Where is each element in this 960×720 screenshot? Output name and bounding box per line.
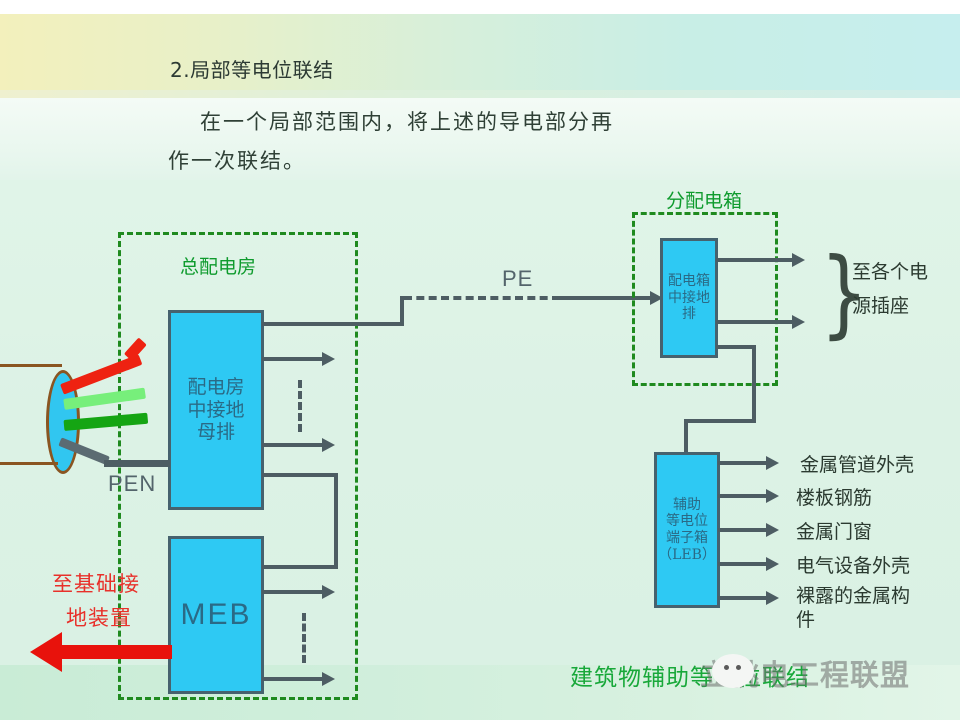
body-paragraph-line-2: 作一次联结。 <box>168 145 306 175</box>
main-bar-branch-2 <box>262 443 324 447</box>
main-to-meb-riser <box>334 473 338 569</box>
leb-target-label-3: 金属门窗 <box>796 517 872 544</box>
leb-outgoing-5 <box>718 596 768 600</box>
leb-target-label-5: 裸露的金属构件 <box>796 585 926 633</box>
leb-target-label-2: 楼板钢筋 <box>796 483 872 510</box>
pe-run-dashed <box>404 296 560 300</box>
main-bar-branch-ellipsis-1 <box>298 380 302 432</box>
box-sub-earthing-bar-line-2: 中接地 <box>668 290 710 307</box>
box-sub-earthing-bar: 配电箱 中接地 排 <box>660 238 718 358</box>
box-main-earthing-bar: 配电房 中接地 母排 <box>168 310 264 510</box>
box-main-earthing-bar-line-1: 配电房 <box>187 376 244 398</box>
leb-outgoing-1 <box>718 461 768 465</box>
sub-bar-outgoing-1-arrowhead <box>792 253 805 267</box>
box-main-earthing-bar-line-3: 母排 <box>197 421 235 443</box>
leb-outgoing-2 <box>718 494 768 498</box>
box-meb-label: MEB <box>180 597 251 632</box>
leb-outgoing-3-arrowhead <box>766 523 779 537</box>
pe-run-riser <box>400 296 404 326</box>
leb-outgoing-5-arrowhead <box>766 591 779 605</box>
sub-bar-outgoing-2-arrowhead <box>792 315 805 329</box>
box-sub-earthing-bar-line-1: 配电箱 <box>668 273 710 290</box>
background-band-top <box>0 14 960 90</box>
pe-run-segment-1 <box>262 322 404 326</box>
box-leb-line-1: 辅助 <box>673 497 701 514</box>
main-to-meb-top <box>262 473 338 477</box>
body-paragraph-line-1: 在一个局部范围内，将上述的导电部分再 <box>200 106 614 136</box>
background-band-title <box>0 90 960 98</box>
red-arrow-label-line-1: 至基础接 <box>52 568 140 598</box>
sub-bar-outgoing-2 <box>716 320 794 324</box>
meb-branch-2-arrowhead <box>322 672 335 686</box>
zone-sub-distribution-box-label: 分配电箱 <box>666 186 742 213</box>
zone-main-distribution-room-label: 总配电房 <box>180 252 256 279</box>
sub-to-leb-drop <box>684 419 688 453</box>
box-leb-line-2: 等电位 <box>666 513 708 530</box>
background-band-white <box>0 0 960 14</box>
slide-canvas: 2.局部等电位联结 在一个局部范围内，将上述的导电部分再 作一次联结。 总配电房… <box>0 0 960 720</box>
label-pen: PEN <box>108 471 156 497</box>
label-to-sockets-line-1: 至各个电 <box>852 257 928 284</box>
label-pe: PE <box>502 266 533 292</box>
box-main-earthing-bar-line-2: 中接地 <box>187 399 244 421</box>
sub-bar-outgoing-1 <box>716 258 794 262</box>
box-sub-earthing-bar-line-3: 排 <box>682 306 696 323</box>
red-arrow-label-line-2: 地装置 <box>66 602 132 632</box>
box-leb: 辅助 等电位 端子箱 （LEB） <box>654 452 720 608</box>
main-to-meb-bottom <box>262 565 338 569</box>
slide-heading: 2.局部等电位联结 <box>170 54 334 83</box>
meb-branch-1-arrowhead <box>322 585 335 599</box>
leb-outgoing-4-arrowhead <box>766 557 779 571</box>
red-arrow-head <box>30 632 62 672</box>
leb-outgoing-2-arrowhead <box>766 489 779 503</box>
meb-branch-1 <box>262 590 324 594</box>
meb-branch-2 <box>262 677 324 681</box>
leb-target-label-4: 电气设备外壳 <box>796 551 910 578</box>
red-arrow-shaft <box>62 645 172 659</box>
main-bar-branch-1 <box>262 357 324 361</box>
box-leb-line-4: （LEB） <box>658 547 716 564</box>
meb-branch-ellipsis <box>302 613 306 663</box>
sub-to-leb-top <box>716 345 756 349</box>
cable-sheath-top <box>0 364 62 367</box>
cable-sheath-bottom <box>0 462 58 465</box>
leb-target-label-1: 金属管道外壳 <box>800 450 914 477</box>
main-bar-branch-1-arrowhead <box>322 352 335 366</box>
leb-outgoing-3 <box>718 528 768 532</box>
label-to-sockets-line-2: 源插座 <box>852 291 909 318</box>
leb-outgoing-1-arrowhead <box>766 456 779 470</box>
pen-horizontal-run <box>104 460 170 467</box>
main-bar-branch-2-arrowhead <box>322 438 335 452</box>
wechat-logo-icon <box>712 654 754 688</box>
leb-outgoing-4 <box>718 562 768 566</box>
box-meb: MEB <box>168 536 264 694</box>
sub-to-leb-bottom <box>684 419 756 423</box>
box-leb-line-3: 端子箱 <box>666 530 708 547</box>
sub-to-leb-riser <box>752 345 756 423</box>
